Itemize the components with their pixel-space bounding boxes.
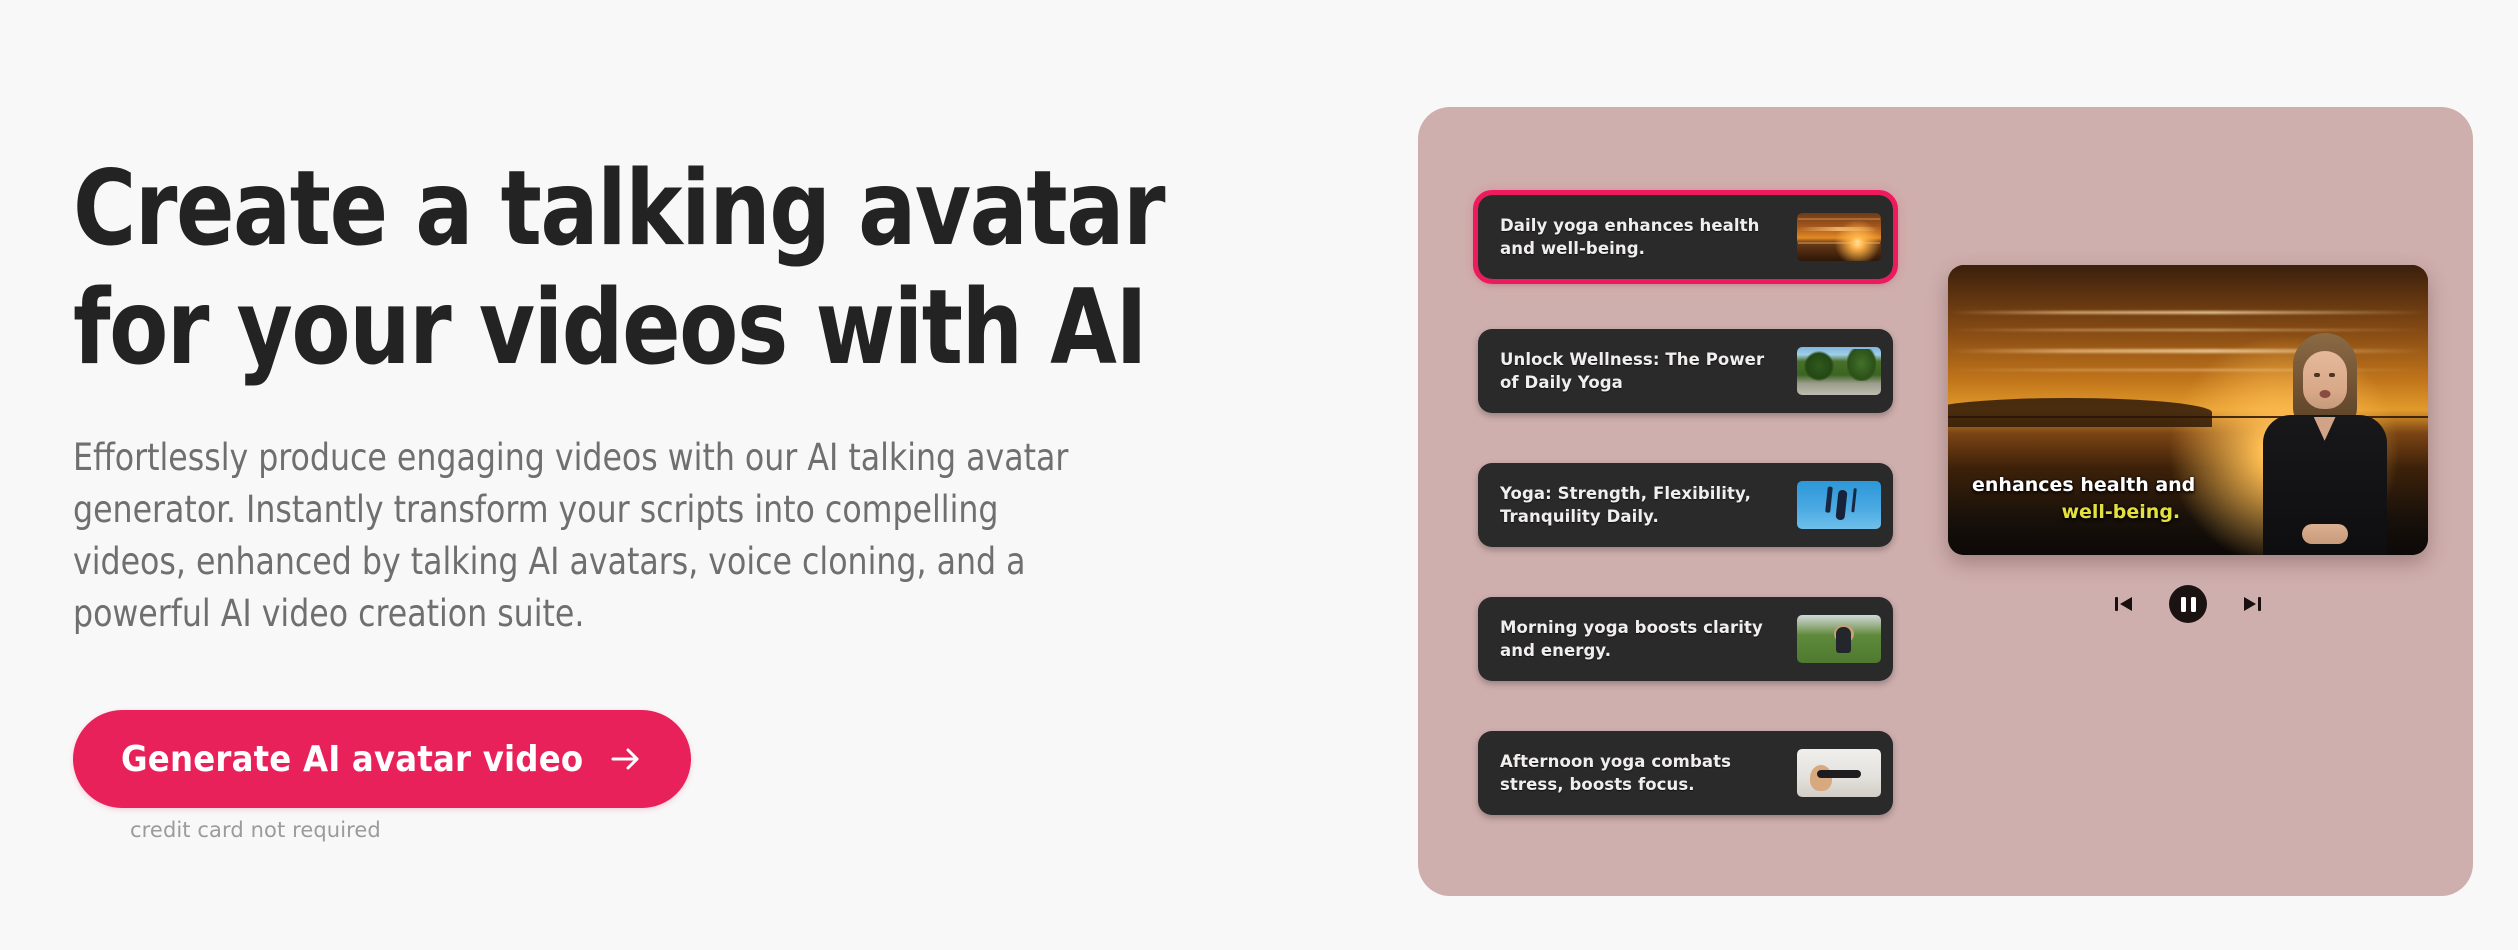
headline-line-1: Create a talking avatar (73, 150, 1310, 269)
skip-back-icon[interactable] (2111, 592, 2135, 616)
arrow-right-icon (609, 742, 643, 776)
sunset-thumbnail (1797, 213, 1881, 261)
pause-bar-right (2191, 597, 2196, 612)
video-player: enhances health and well-being. (1948, 265, 2428, 555)
script-card-text: Afternoon yoga combats stress, boosts fo… (1500, 750, 1797, 796)
video-caption: enhances health and well-being. (1972, 472, 2270, 526)
script-card-5[interactable]: Afternoon yoga combats stress, boosts fo… (1478, 731, 1893, 815)
playback-controls (1948, 585, 2428, 623)
avatar-mouth (2319, 390, 2330, 398)
avatar-presenter (2260, 329, 2390, 555)
avatar-body (2263, 415, 2387, 555)
handstand-sky-thumbnail (1797, 481, 1881, 529)
hero-left-column: Create a talking avatar for your videos … (73, 0, 1393, 950)
grass-meditation-thumbnail (1797, 615, 1881, 663)
skip-forward-icon[interactable] (2241, 592, 2265, 616)
cta-button-label: Generate AI avatar video (121, 739, 583, 780)
avatar-eye-right (2329, 373, 2335, 377)
script-card-3[interactable]: Yoga: Strength, Flexibility, Tranquility… (1478, 463, 1893, 547)
description-line-3: videos, enhanced by talking AI avatars, … (73, 536, 1308, 588)
script-card-2[interactable]: Unlock Wellness: The Power of Daily Yoga (1478, 329, 1893, 413)
caption-line-1: enhances health and (1972, 472, 2270, 499)
script-card-4[interactable]: Morning yoga boosts clarity and energy. (1478, 597, 1893, 681)
headline-line-2: for your videos with AI (73, 269, 1310, 388)
hero-section: Create a talking avatar for your videos … (0, 0, 2518, 950)
avatar-face (2303, 351, 2347, 409)
avatar-neckline (2314, 417, 2336, 441)
credit-card-note: credit card not required (130, 818, 381, 842)
script-card-text: Yoga: Strength, Flexibility, Tranquility… (1500, 482, 1797, 528)
script-card-text: Morning yoga boosts clarity and energy. (1500, 616, 1797, 662)
script-card-1[interactable]: Daily yoga enhances health and well-bein… (1478, 195, 1893, 279)
avatar-hands (2302, 524, 2348, 544)
video-preview-panel: Daily yoga enhances health and well-bein… (1418, 107, 2473, 896)
dune-shape (1948, 398, 2212, 427)
pause-bar-left (2181, 597, 2186, 612)
avatar-eye-left (2314, 373, 2320, 377)
description-line-1: Effortlessly produce engaging videos wit… (73, 432, 1308, 484)
page-title: Create a talking avatar for your videos … (73, 150, 1310, 389)
forest-road-thumbnail (1797, 347, 1881, 395)
script-card-list: Daily yoga enhances health and well-bein… (1478, 195, 1903, 815)
studio-plank-thumbnail (1797, 749, 1881, 797)
description-line-2: generator. Instantly transform your scri… (73, 484, 1308, 536)
generate-ai-avatar-video-button[interactable]: Generate AI avatar video (73, 710, 691, 808)
pause-icon[interactable] (2169, 585, 2207, 623)
caption-line-2: well-being. (1972, 499, 2270, 526)
hero-description: Effortlessly produce engaging videos wit… (73, 432, 1308, 640)
video-frame[interactable]: enhances health and well-being. (1948, 265, 2428, 555)
description-line-4: powerful AI video creation suite. (73, 588, 1308, 640)
cloud-streak (1948, 311, 2428, 314)
script-card-text: Daily yoga enhances health and well-bein… (1500, 214, 1797, 260)
script-card-text: Unlock Wellness: The Power of Daily Yoga (1500, 348, 1797, 394)
